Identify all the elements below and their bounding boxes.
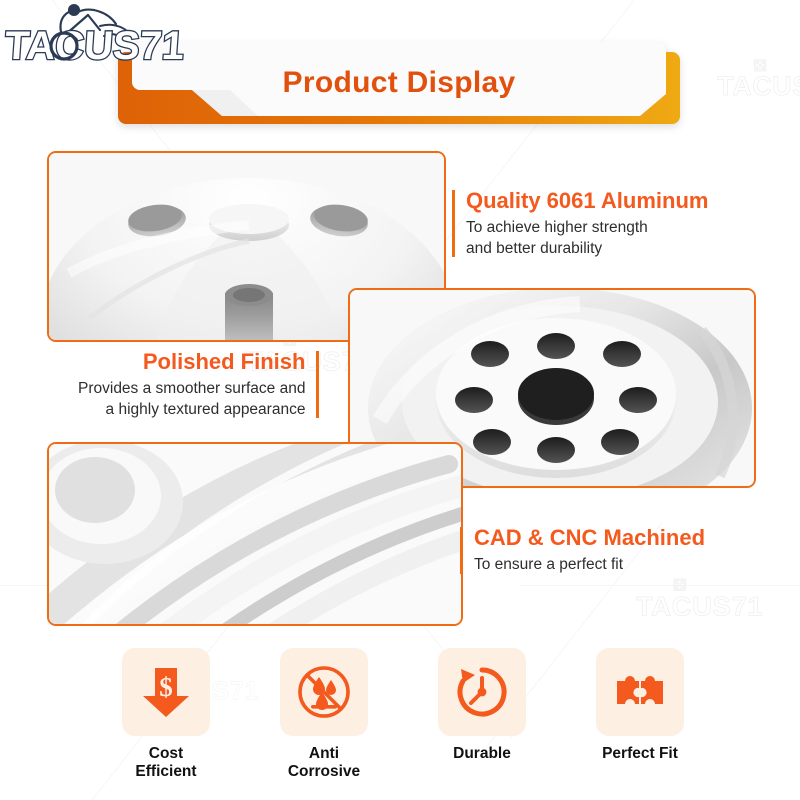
accent-bar — [452, 190, 455, 257]
benefit-durable: Durable — [416, 648, 548, 788]
benefit-icon-tile — [438, 648, 526, 736]
photo-canvas — [49, 444, 461, 624]
feature-heading: CAD & CNC Machined — [474, 525, 705, 551]
benefit-label-line: Corrosive — [288, 763, 360, 781]
benefit-label: Anti Corrosive — [288, 745, 360, 781]
feature-text-aluminum: Quality 6061 Aluminum To achieve higher … — [452, 188, 708, 259]
dollar-down-arrow-icon: $ — [137, 663, 195, 721]
product-photo-spacer-edge-detail — [47, 442, 463, 626]
feature-subtext: To achieve higher strength and better du… — [466, 218, 708, 259]
feature-subtext-line: Provides a smoother surface and — [78, 379, 305, 400]
benefit-label-line: Durable — [453, 745, 511, 763]
watermark: ⚄TACUS71 — [718, 61, 800, 102]
feature-text-cad-cnc: CAD & CNC Machined To ensure a perfect f… — [460, 525, 705, 576]
benefit-label: Perfect Fit — [602, 745, 678, 763]
benefit-label-line: Cost — [135, 745, 196, 763]
product-display-page: ⚄TACUS71 ⚄TACUS71 ⚄TACUS71 ⚄TACUS71 ⚄TAC… — [0, 0, 800, 800]
svg-text:$: $ — [159, 672, 173, 702]
page-title: Product Display — [118, 66, 680, 100]
feature-subtext-line: To ensure a perfect fit — [474, 555, 705, 576]
benefit-perfect-fit: Perfect Fit — [574, 648, 706, 788]
benefit-label: Durable — [453, 745, 511, 763]
benefit-strip: $ Cost Efficient — [100, 648, 706, 788]
benefit-anti-corrosive: Anti Corrosive — [258, 648, 390, 788]
feature-subtext-line: and better durability — [466, 239, 708, 260]
feature-subtext-line: To achieve higher strength — [466, 218, 708, 239]
clock-arrow-icon — [453, 663, 511, 721]
puzzle-pieces-icon — [611, 663, 669, 721]
accent-bar — [460, 527, 463, 574]
benefit-label: Cost Efficient — [135, 745, 196, 781]
benefit-icon-tile — [596, 648, 684, 736]
no-water-drop-icon — [295, 663, 353, 721]
logo-text: TACUS71 — [4, 24, 186, 68]
benefit-cost-efficient: $ Cost Efficient — [100, 648, 232, 788]
feature-heading: Polished Finish — [78, 349, 305, 375]
feature-heading: Quality 6061 Aluminum — [466, 188, 708, 214]
benefit-label-line: Perfect Fit — [602, 745, 678, 763]
feature-subtext: To ensure a perfect fit — [474, 555, 705, 576]
benefit-label-line: Anti — [288, 745, 360, 763]
feature-subtext-line: a highly textured appearance — [78, 400, 305, 421]
benefit-icon-tile: $ — [122, 648, 210, 736]
benefit-icon-tile — [280, 648, 368, 736]
feature-text-polished-finish: Polished Finish Provides a smoother surf… — [78, 349, 319, 420]
benefit-label-line: Efficient — [135, 763, 196, 781]
feature-subtext: Provides a smoother surface and a highly… — [78, 379, 305, 420]
brand-logo: TACUS71 — [4, 2, 194, 74]
accent-bar — [316, 351, 319, 418]
header-banner: Product Display — [118, 42, 680, 134]
watermark: ⚄TACUS71 — [636, 580, 764, 622]
